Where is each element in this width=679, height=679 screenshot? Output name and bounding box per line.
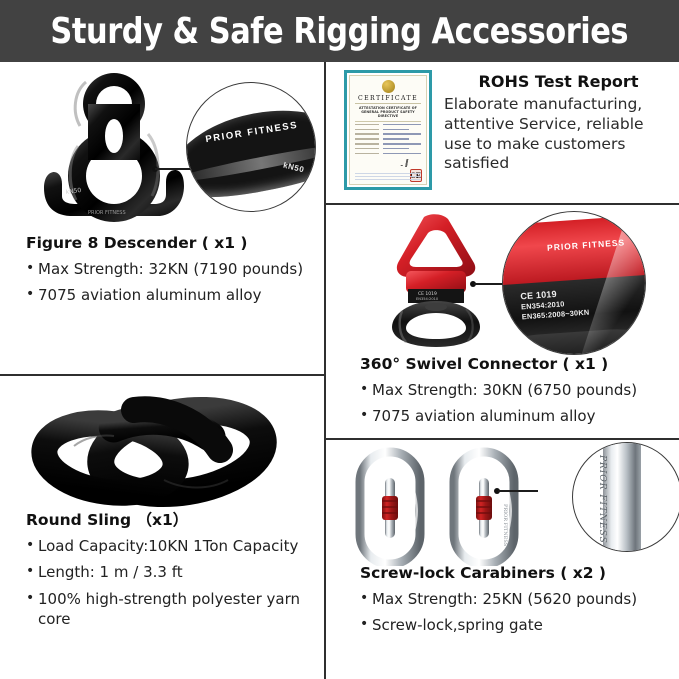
list-item: Screw-lock,spring gate: [360, 616, 673, 636]
content-grid: kN50 PRIOR FITNESS PRIOR FITNESS kN50: [0, 62, 679, 679]
certificate-subtitle: ATTESTATION CERTIFICATE OF GENERAL PRODU…: [355, 106, 421, 119]
carabiner-shaft-detail: [603, 442, 641, 552]
certificate-seal-icon: [382, 80, 395, 93]
carabiner-text-block: Screw-lock Carabiners ( x2 ) Max Strengt…: [334, 564, 679, 636]
list-item: Max Strength: 25KN (5620 pounds): [360, 590, 673, 610]
screw-lock-carabiner-icon: PRIOR FITNESS: [348, 446, 578, 566]
certificate-rule: [355, 121, 421, 122]
right-column: CERTIFICATE ATTESTATION CERTIFICATE OF G…: [326, 62, 679, 679]
figure-8-bullets: Max Strength: 32KN (7190 pounds) 7075 av…: [26, 260, 320, 307]
list-item: Max Strength: 30KN (6750 pounds): [360, 381, 673, 401]
panel-screw-lock-carabiners: PRIOR FITNESS PRIOR FITNESS Screw-lock C…: [326, 440, 679, 679]
list-item: Length: 1 m / 3.3 ft: [26, 563, 320, 583]
swivel-connector-icon: CE 1019 EN354:2010: [362, 211, 512, 351]
figure-8-descender-icon: kN50 PRIOR FITNESS: [14, 68, 214, 228]
svg-text:PRIOR FITNESS: PRIOR FITNESS: [88, 210, 126, 216]
round-sling-icon: [14, 380, 314, 515]
figure-8-callout-bubble: PRIOR FITNESS kN50: [186, 82, 316, 212]
panel-rohs-test-report: CERTIFICATE ATTESTATION CERTIFICATE OF G…: [326, 62, 679, 205]
swivel-title: 360° Swivel Connector ( x1 ): [360, 355, 673, 374]
panel-swivel-connector: CE 1019 EN354:2010: [326, 205, 679, 440]
certificate-fields: [355, 124, 421, 154]
carabiner-bullets: Max Strength: 25KN (5620 pounds) Screw-l…: [360, 590, 673, 637]
certificate-signature: [394, 159, 420, 167]
figure-8-text-block: Figure 8 Descender ( x1 ) Max Strength: …: [0, 234, 326, 306]
carabiner-callout-bubble: PRIOR FITNESS: [572, 442, 679, 552]
panel-figure-8-descender: kN50 PRIOR FITNESS PRIOR FITNESS kN50: [0, 62, 326, 376]
swivel-callout-bubble: PRIOR FITNESS CE 1019 EN354:2010 EN365:2…: [502, 211, 646, 355]
list-item: 7075 aviation aluminum alloy: [26, 286, 320, 306]
swivel-text-block: 360° Swivel Connector ( x1 ) Max Strengt…: [334, 355, 679, 427]
figure-8-image-area: kN50 PRIOR FITNESS PRIOR FITNESS kN50: [0, 62, 326, 234]
header-banner: Sturdy & Safe Rigging Accessories: [0, 0, 679, 62]
certificate-footer-block: [355, 173, 421, 182]
list-item: 7075 aviation aluminum alloy: [360, 407, 673, 427]
rohs-title: ROHS Test Report: [444, 72, 673, 91]
carabiner-leader-line: [498, 490, 538, 492]
left-column: kN50 PRIOR FITNESS PRIOR FITNESS kN50: [0, 62, 326, 679]
panel-round-sling: Round Sling （x1） Load Capacity:10KN 1Ton…: [0, 376, 326, 679]
carabiner-image-area: PRIOR FITNESS PRIOR FITNESS: [334, 440, 679, 564]
list-item: Max Strength: 32KN (7190 pounds): [26, 260, 320, 280]
round-sling-text-block: Round Sling （x1） Load Capacity:10KN 1Ton…: [0, 511, 326, 630]
product-infographic: Sturdy & Safe Rigging Accessories: [0, 0, 679, 679]
carabiner-engraving-text: PRIOR FITNESS: [597, 455, 607, 544]
swivel-marking-text: CE 1019 EN354:2010 EN365:2008~30KN: [520, 286, 590, 323]
round-sling-bullets: Load Capacity:10KN 1Ton Capacity Length:…: [26, 537, 320, 630]
list-item: 100% high-strength polyester yarn core: [26, 590, 320, 630]
certificate-heading: CERTIFICATE: [355, 95, 421, 104]
svg-text:PRIOR FITNESS: PRIOR FITNESS: [502, 504, 508, 547]
page-title: Sturdy & Safe Rigging Accessories: [51, 11, 629, 52]
swivel-image-area: CE 1019 EN354:2010: [334, 205, 679, 355]
certificate-image: CERTIFICATE ATTESTATION CERTIFICATE OF G…: [344, 70, 432, 190]
rohs-description: Elaborate manufacturing, attentive Servi…: [444, 95, 673, 174]
swivel-bullets: Max Strength: 30KN (6750 pounds) 7075 av…: [360, 381, 673, 428]
svg-text:EN354:2010: EN354:2010: [416, 297, 439, 301]
round-sling-image-area: [0, 376, 326, 511]
figure-8-title: Figure 8 Descender ( x1 ): [26, 234, 320, 253]
carabiner-title: Screw-lock Carabiners ( x2 ): [360, 564, 673, 583]
list-item: Load Capacity:10KN 1Ton Capacity: [26, 537, 320, 557]
